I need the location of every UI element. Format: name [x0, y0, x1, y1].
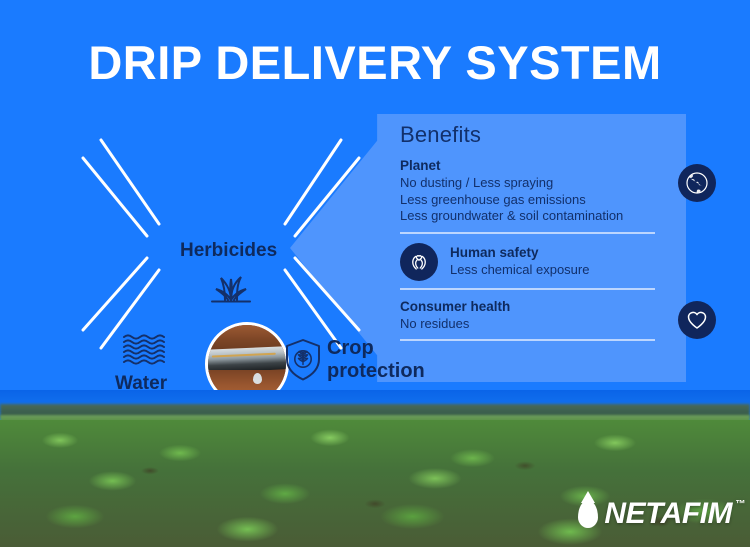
- page-title: DRIP DELIVERY SYSTEM: [0, 38, 750, 87]
- benefit-line: Less greenhouse gas emissions: [400, 192, 676, 209]
- benefit-title-planet: Planet: [400, 158, 676, 175]
- logo-text: NETAFIM: [604, 497, 732, 530]
- delivery-diagram: Herbicides Water P N: [55, 118, 395, 393]
- benefit-line: Less groundwater & soil contamination: [400, 208, 676, 225]
- benefit-line: Less chemical exposure: [450, 262, 589, 279]
- benefit-text-human-safety: Human safety Less chemical exposure: [450, 245, 589, 279]
- benefit-item-planet: Planet No dusting / Less spraying Less g…: [400, 158, 676, 225]
- heart-icon: [678, 301, 716, 339]
- hands-care-icon: [400, 243, 438, 281]
- benefit-line: No dusting / Less spraying: [400, 175, 676, 192]
- netafim-logo: NETAFIM™: [578, 497, 732, 531]
- infographic-root: DRIP DELIVERY SYSTEM: [0, 0, 750, 547]
- benefit-title-consumer-health: Consumer health: [400, 299, 676, 316]
- benefits-divider: [400, 232, 655, 234]
- water-drop-icon: [578, 500, 598, 528]
- benefits-divider: [400, 288, 655, 290]
- diagram-label-herbicides: Herbicides: [180, 240, 277, 262]
- crop-protection-line1: Crop: [327, 337, 374, 359]
- benefit-item-human-safety: Human safety Less chemical exposure: [400, 243, 676, 281]
- trademark-symbol: ™: [736, 499, 746, 510]
- benefits-content: Benefits Planet No dusting / Less sprayi…: [400, 122, 676, 374]
- benefit-title-human-safety: Human safety: [450, 245, 589, 262]
- benefits-divider: [400, 339, 655, 341]
- globe-icon: [678, 164, 716, 202]
- benefit-item-consumer-health: Consumer health No residues: [400, 299, 676, 333]
- benefit-line: No residues: [400, 316, 676, 333]
- logo-wordmark: NETAFIM™: [604, 497, 732, 531]
- benefits-heading: Benefits: [400, 122, 676, 148]
